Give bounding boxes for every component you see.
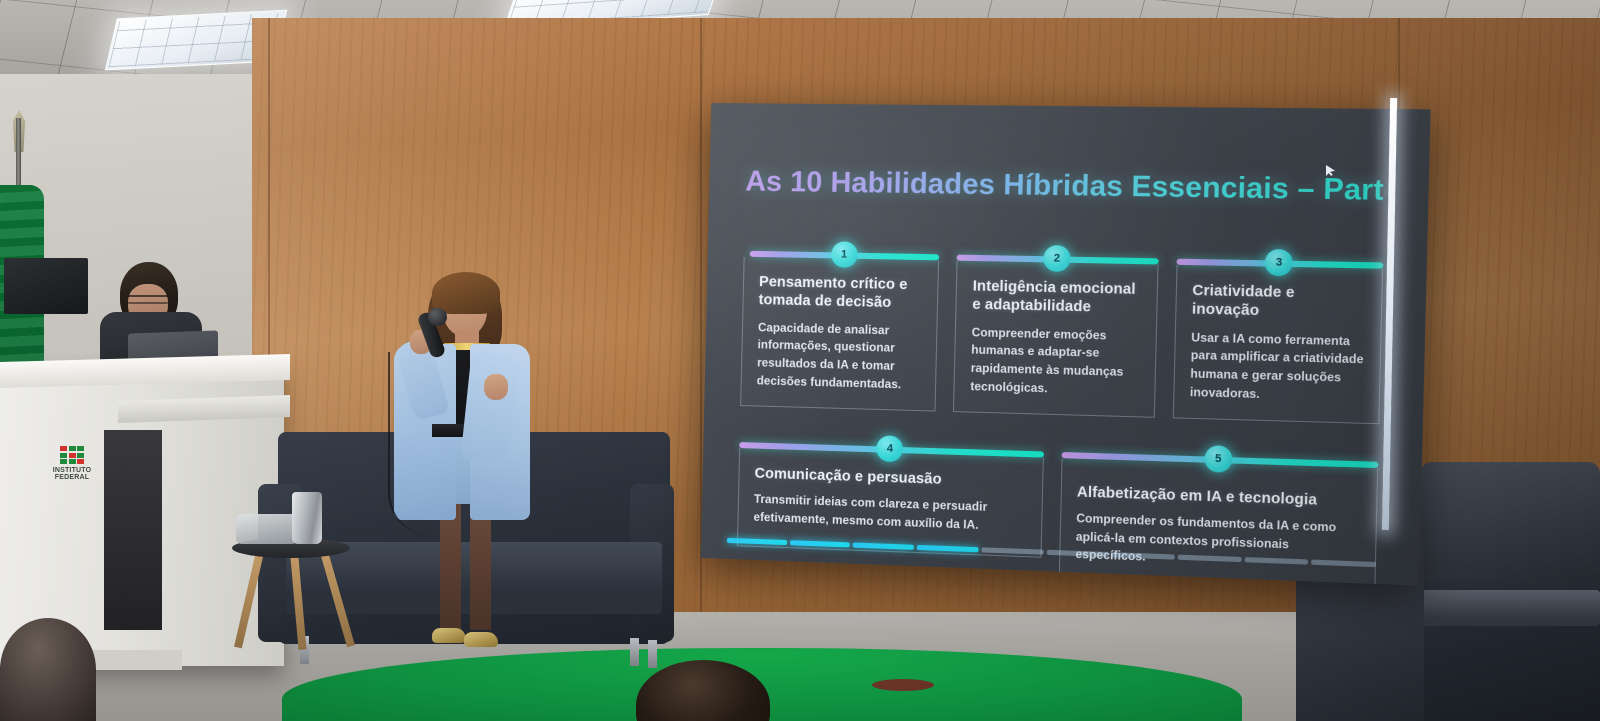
projection-screen: As 10 Habilidades Híbridas Essenciais – …: [701, 103, 1431, 586]
card-title: Comunicação e persuasão: [754, 466, 1026, 493]
card-body: Criatividade e inovação Usar a IA como f…: [1172, 265, 1383, 425]
skill-card[interactable]: 3 Criatividade e inovação Usar a IA como…: [1172, 244, 1383, 424]
podium-base: [86, 650, 182, 670]
microphone-cable: [388, 352, 432, 536]
card-description: Transmitir ideias com clareza e persuadi…: [753, 491, 1025, 536]
card-body: Inteligência emocional e adaptabilidade …: [953, 261, 1158, 418]
skill-card[interactable]: 2 Inteligência emocional e adaptabilidad…: [953, 240, 1158, 418]
rug-marking: [872, 679, 934, 691]
skill-card[interactable]: 1 Pensamento crítico e tomada de decisão…: [740, 237, 940, 412]
microphone-head-icon: [428, 308, 447, 326]
podium-recess: [104, 430, 162, 630]
drinking-glasses: [236, 514, 298, 544]
card-body: Alfabetização em IA e tecnologia Compree…: [1058, 458, 1378, 585]
skill-card[interactable]: 4 Comunicação e persuasão Transmitir ide…: [736, 428, 1044, 580]
logo-line-1: INSTITUTO: [53, 467, 92, 474]
slide-title: As 10 Habilidades Híbridas Essenciais – …: [745, 165, 1385, 208]
slide: As 10 Habilidades Híbridas Essenciais – …: [701, 103, 1431, 586]
card-title: Criatividade e inovação: [1192, 283, 1366, 324]
presenter-shoe: [464, 632, 498, 647]
card-body: Pensamento crítico e tomada de decisão C…: [740, 257, 939, 412]
wood-panel-seam: [700, 18, 702, 678]
card-title: Inteligência emocional e adaptabilidade: [972, 278, 1141, 318]
photo-scene: INSTITUTO FEDERAL As 10 Habi: [0, 0, 1600, 721]
institucional-logo: INSTITUTO FEDERAL: [36, 446, 108, 510]
card-title: Pensamento crítico e tomada de decisão: [758, 274, 922, 313]
armchair-backrest: [1420, 462, 1600, 582]
card-description: Compreender emoções humanas e adaptar-se…: [970, 324, 1140, 400]
av-equipment-box: [4, 258, 88, 314]
presenter-hair-front: [432, 272, 500, 314]
card-description: Usar a IA como ferramenta para amplifica…: [1190, 329, 1364, 406]
card-row-top: 1 Pensamento crítico e tomada de decisão…: [740, 237, 1384, 425]
sofa-leg: [630, 638, 639, 666]
glasses-icon: [126, 295, 170, 304]
presenter-shoe: [432, 628, 466, 643]
audience-head: [0, 618, 96, 721]
sofa-leg: [648, 640, 657, 668]
card-title: Alfabetização em IA e tecnologia: [1077, 484, 1361, 512]
logo-blocks-icon: [60, 446, 84, 464]
presenter-hand-right: [484, 374, 508, 400]
card-description: Capacidade de analisar informações, ques…: [757, 319, 922, 394]
water-pitcher: [292, 492, 322, 544]
logo-line-2: FEDERAL: [55, 474, 89, 481]
